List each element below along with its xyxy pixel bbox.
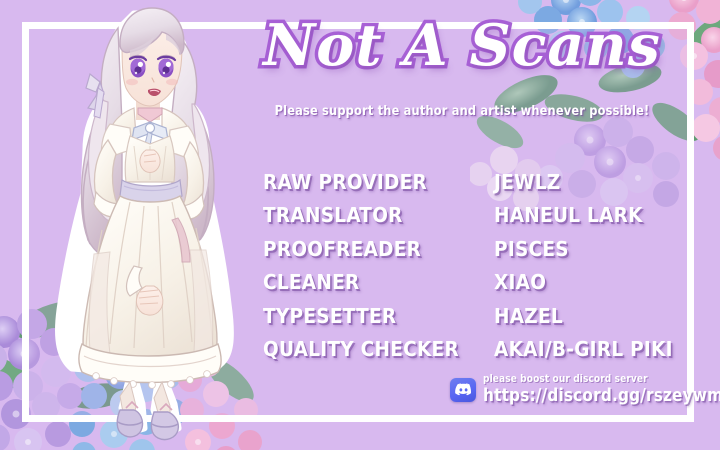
- credit-role: QUALITY CHECKER: [263, 337, 494, 361]
- discord-icon[interactable]: [450, 378, 476, 402]
- character-illustration: [38, 4, 238, 450]
- credit-row: TRANSLATOR HANEUL LARK: [263, 203, 693, 236]
- credit-row: RAW PROVIDER JEWLZ: [263, 170, 693, 203]
- credit-role: PROOFREADER: [263, 237, 494, 261]
- credit-person: HANEUL LARK: [494, 203, 693, 227]
- discord-text-block: please boost our discord server https://…: [483, 374, 720, 405]
- credit-role: TYPESETTER: [263, 304, 494, 328]
- credit-row: TYPESETTER HAZEL: [263, 304, 693, 337]
- credit-person: AKAI/B-GIRL PIKI: [494, 337, 693, 361]
- title-area: Not A Scans: [236, 6, 688, 86]
- discord-boost-text: please boost our discord server: [483, 374, 718, 385]
- credit-person: HAZEL: [494, 304, 693, 328]
- credits-page: Not A Scans Please support the author an…: [0, 0, 720, 450]
- credit-row: CLEANER XIAO: [263, 270, 693, 303]
- discord-footer[interactable]: please boost our discord server https://…: [450, 374, 720, 405]
- credit-role: TRANSLATOR: [263, 203, 494, 227]
- credit-person: JEWLZ: [494, 170, 693, 194]
- credit-role: RAW PROVIDER: [263, 170, 494, 194]
- credit-role: CLEANER: [263, 270, 494, 294]
- credit-person: PISCES: [494, 237, 693, 261]
- credit-row: PROOFREADER PISCES: [263, 237, 693, 270]
- discord-url-link[interactable]: https://discord.gg/rszeywm: [483, 388, 720, 406]
- credit-person: XIAO: [494, 270, 693, 294]
- credit-row: QUALITY CHECKER AKAI/B-GIRL PIKI: [263, 337, 693, 370]
- support-subtitle: Please support the author and artist whe…: [245, 104, 679, 119]
- character-svg: [38, 4, 238, 450]
- page-title: Not A Scans: [263, 16, 661, 76]
- discord-glyph: [455, 383, 472, 396]
- credits-list: RAW PROVIDER JEWLZ TRANSLATOR HANEUL LAR…: [263, 170, 693, 370]
